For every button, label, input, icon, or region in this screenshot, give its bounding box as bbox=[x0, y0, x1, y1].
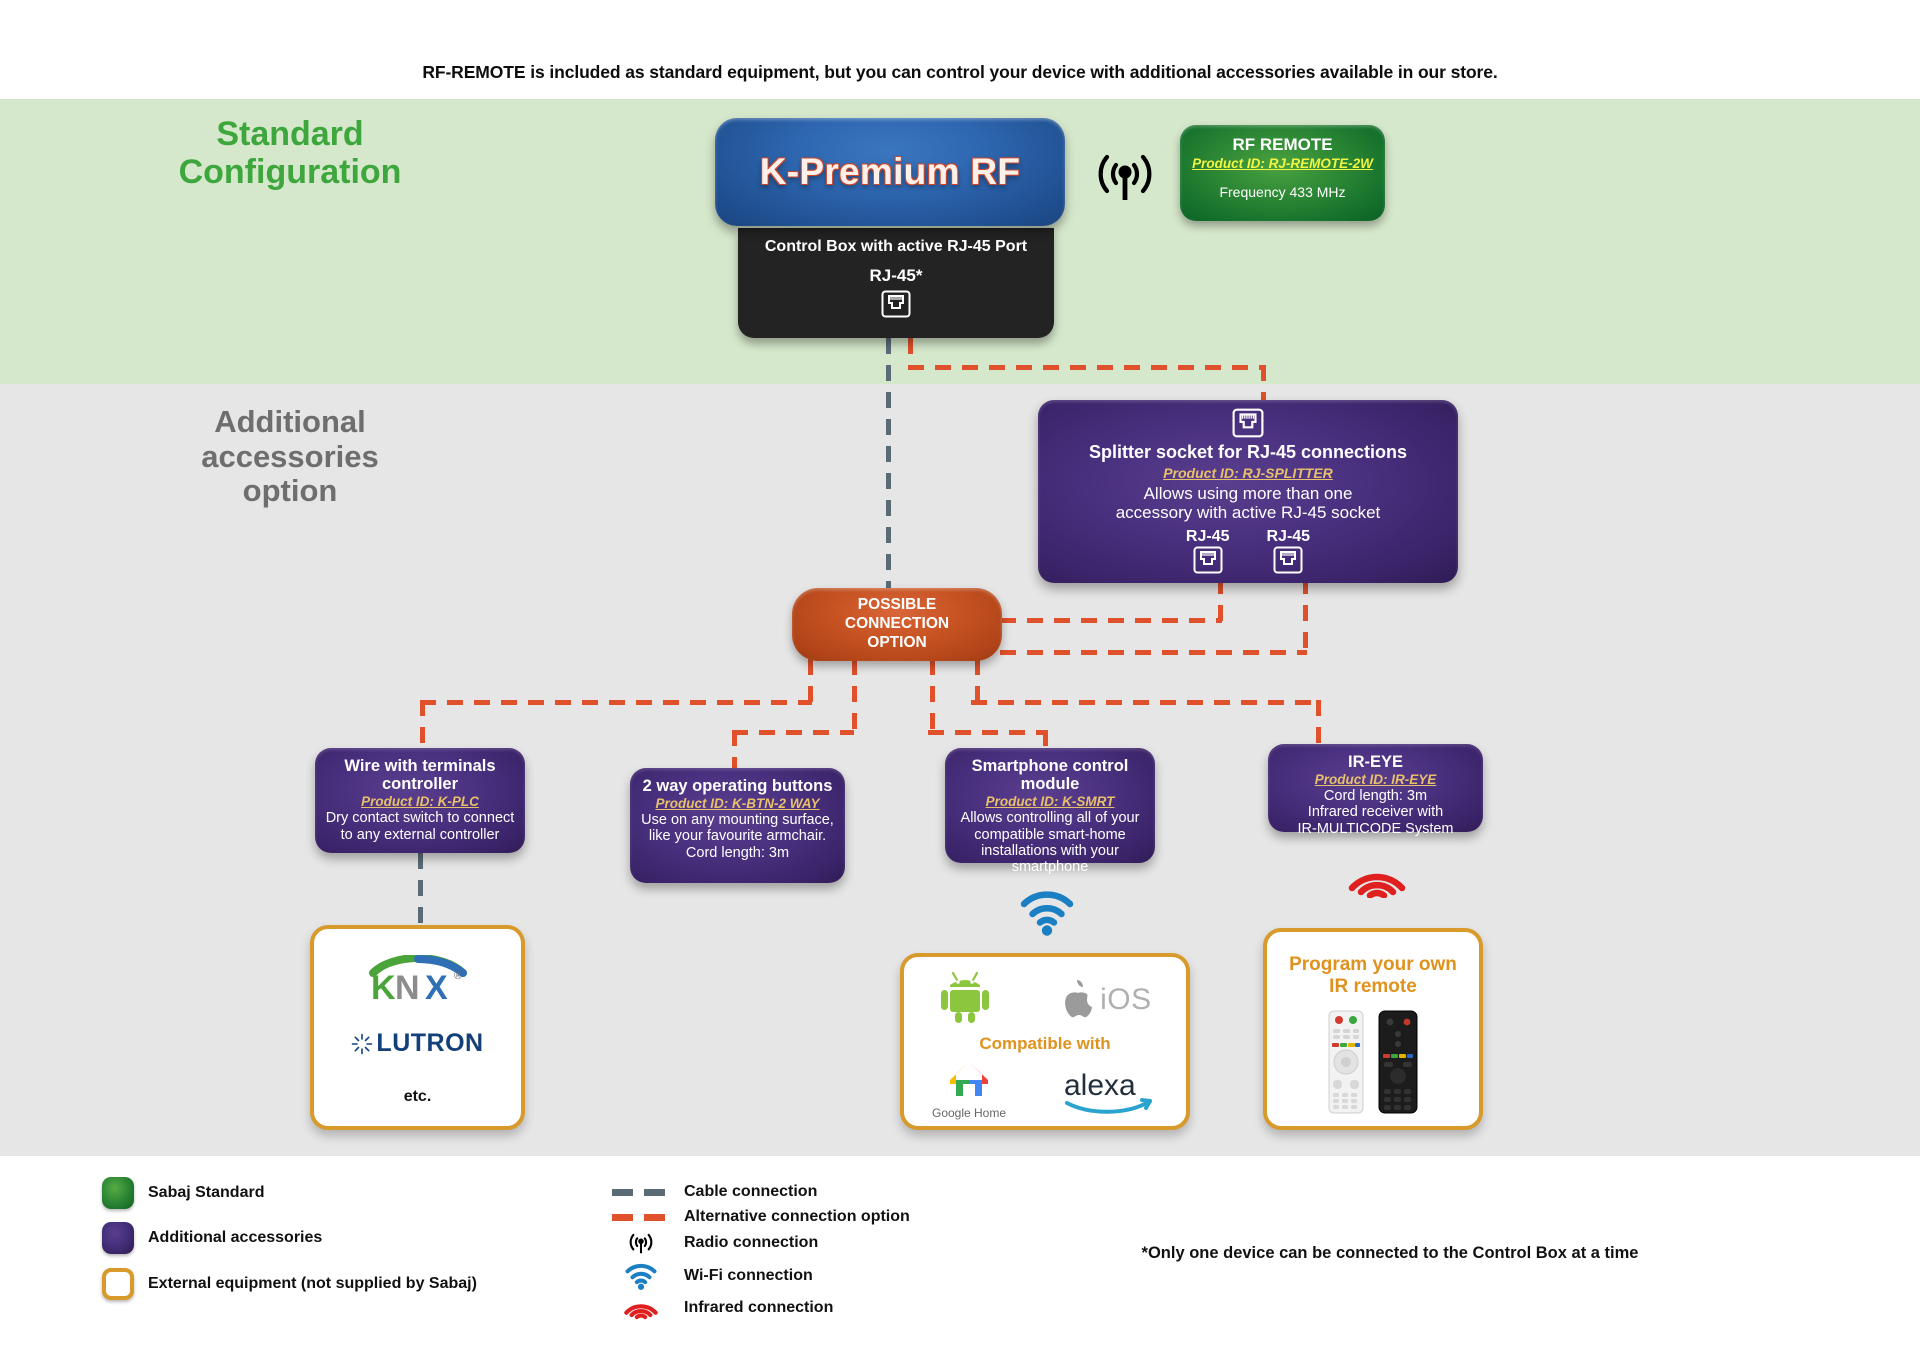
legend-additional-accessories: Additional accessories bbox=[102, 1222, 322, 1254]
google-home-logo: Google Home bbox=[932, 1058, 1006, 1120]
possible-connection-option[interactable]: POSSIBLE CONNECTION OPTION bbox=[792, 588, 1002, 661]
rf-remote-device[interactable]: RF REMOTE Product ID: RJ-REMOTE-2W Frequ… bbox=[1180, 125, 1385, 221]
legend-dashed-gray-line bbox=[612, 1189, 670, 1196]
accessory-product-id: Product ID: IR-EYE bbox=[1278, 772, 1473, 787]
alt-pco-stub-1 bbox=[808, 659, 813, 704]
splitter-top-rj45-icon bbox=[1038, 408, 1458, 438]
alt-pco-stub-3 bbox=[930, 659, 935, 733]
control-box-title: Control Box with active RJ-45 Port bbox=[738, 238, 1054, 256]
legend-swatch-white bbox=[102, 1268, 134, 1300]
section-title-additional-l1: Additional bbox=[90, 405, 490, 440]
legend-label: Additional accessories bbox=[148, 1229, 322, 1247]
infrared-icon bbox=[1348, 862, 1406, 898]
alt-to-acc1 bbox=[420, 700, 425, 750]
svg-text:X: X bbox=[425, 969, 448, 1003]
legend-radio-connection: Radio connection bbox=[612, 1228, 818, 1258]
legend-swatch-purple bbox=[102, 1222, 134, 1254]
k-premium-rf-label: K-Premium RF bbox=[760, 151, 1021, 193]
accessory-product-id: Product ID: K-SMRT bbox=[955, 794, 1145, 809]
cable-acc1-to-external bbox=[418, 853, 423, 927]
splitter-product-id: Product ID: RJ-SPLITTER bbox=[1038, 465, 1458, 481]
lutron-wordmark: LUTRON bbox=[376, 1029, 483, 1058]
alt-bus-left bbox=[420, 700, 812, 705]
ios-wordmark: iOS bbox=[1100, 983, 1152, 1017]
alt-controlbox-to-splitter-v bbox=[1261, 365, 1266, 403]
lutron-logo: LUTRON bbox=[314, 1029, 521, 1058]
splitter-port-left-label: RJ-45 bbox=[1186, 528, 1230, 546]
section-title-standard-l2: Configuration bbox=[90, 153, 490, 191]
alt-to-acc3 bbox=[1043, 730, 1048, 750]
accessory-smartphone-control-module[interactable]: Smartphone control module Product ID: K-… bbox=[945, 748, 1155, 863]
ir-eye-desc-l2: Infrared receiver with bbox=[1278, 804, 1473, 820]
google-home-label: Google Home bbox=[932, 1106, 1006, 1120]
alt-bus-inner-left bbox=[732, 730, 854, 735]
accessory-description: Cord length: 3m Infrared receiver with I… bbox=[1278, 788, 1473, 837]
alt-bus-inner-right bbox=[928, 730, 1048, 735]
alt-controlbox-to-splitter-h bbox=[908, 365, 1266, 370]
accessory-ir-eye[interactable]: IR-EYE Product ID: IR-EYE Cord length: 3… bbox=[1268, 744, 1483, 832]
alt-to-acc2 bbox=[732, 730, 737, 770]
wifi-icon bbox=[612, 1262, 670, 1290]
wifi-icon bbox=[1018, 888, 1076, 936]
accessory-product-id: Product ID: K-PLC bbox=[325, 794, 515, 809]
legend-label: External equipment (not supplied by Saba… bbox=[148, 1275, 477, 1293]
legend-label: Radio connection bbox=[684, 1234, 818, 1252]
ir-eye-desc-l1: Cord length: 3m bbox=[1278, 788, 1473, 804]
accessory-title: Smartphone control module bbox=[955, 757, 1145, 793]
splitter-port-right-label: RJ-45 bbox=[1267, 528, 1311, 546]
compatible-with-label: Compatible with bbox=[904, 1034, 1186, 1054]
legend-wifi-connection: Wi-Fi connection bbox=[612, 1262, 813, 1290]
alt-pco-stub-2 bbox=[852, 659, 857, 733]
splitter-port-left[interactable]: RJ-45 bbox=[1186, 528, 1230, 574]
accessory-description: Allows controlling all of your compatibl… bbox=[955, 810, 1145, 875]
pco-l1: POSSIBLE bbox=[845, 596, 949, 615]
external-ir-remote-card[interactable]: Program your own IR remote bbox=[1263, 928, 1483, 1130]
section-title-additional-l3: option bbox=[90, 474, 490, 509]
legend-swatch-green bbox=[102, 1177, 134, 1209]
accessory-wire-terminals-controller[interactable]: Wire with terminals controller Product I… bbox=[315, 748, 525, 853]
android-icon bbox=[938, 969, 992, 1030]
legend-label: Sabaj Standard bbox=[148, 1184, 264, 1202]
splitter-ports: RJ-45 RJ-45 bbox=[1038, 528, 1458, 574]
alt-pco-stub-4 bbox=[975, 659, 980, 704]
program-ir-remote-heading: Program your own IR remote bbox=[1267, 932, 1479, 998]
legend-cable-connection: Cable connection bbox=[612, 1183, 817, 1201]
alt-to-acc4 bbox=[1316, 700, 1321, 746]
legend-alternative-connection: Alternative connection option bbox=[612, 1208, 910, 1226]
svg-text:N: N bbox=[395, 969, 420, 1003]
infrared-icon bbox=[612, 1296, 670, 1320]
pco-l2: CONNECTION bbox=[845, 615, 949, 634]
accessory-description: Dry contact switch to connect to any ext… bbox=[325, 810, 515, 842]
section-title-additional-l2: accessories bbox=[90, 440, 490, 475]
alt-splitter-port1-to-pco bbox=[1000, 618, 1222, 623]
radio-wave-icon bbox=[1085, 145, 1165, 212]
external-smartphone-compat-card[interactable]: iOS Compatible with Google Home alex bbox=[900, 953, 1190, 1130]
accessory-title: 2 way operating buttons bbox=[640, 777, 835, 795]
ios-logo: iOS bbox=[1061, 979, 1152, 1021]
legend-sabaj-standard: Sabaj Standard bbox=[102, 1177, 264, 1209]
external-controllers-card[interactable]: K N X ® LUTRON etc. bbox=[310, 925, 525, 1130]
k-premium-rf-device[interactable]: K-Premium RF bbox=[715, 118, 1065, 226]
black-remote-icon bbox=[1378, 1010, 1418, 1119]
splitter-desc-l2: accessory with active RJ-45 socket bbox=[1038, 503, 1458, 522]
section-title-standard-l1: Standard bbox=[90, 115, 490, 153]
section-title-standard: Standard Configuration bbox=[90, 115, 490, 191]
accessory-2way-operating-buttons[interactable]: 2 way operating buttons Product ID: K-BT… bbox=[630, 768, 845, 883]
accessory-title: Wire with terminals controller bbox=[325, 757, 515, 793]
header-note: RF-REMOTE is included as standard equipm… bbox=[0, 62, 1920, 83]
rj45-port-icon bbox=[738, 290, 1054, 318]
ir-eye-desc-l3: IR-MULTICODE System bbox=[1278, 821, 1473, 837]
white-remote-icon bbox=[1328, 1010, 1364, 1119]
legend-label: Wi-Fi connection bbox=[684, 1267, 813, 1285]
diagram-canvas: RF-REMOTE is included as standard equipm… bbox=[0, 0, 1920, 1357]
svg-text:®: ® bbox=[454, 970, 462, 982]
splitter-title: Splitter socket for RJ-45 connections bbox=[1038, 442, 1458, 463]
alt-bus-right bbox=[971, 700, 1321, 705]
legend-label: Cable connection bbox=[684, 1183, 817, 1201]
footnote: *Only one device can be connected to the… bbox=[1130, 1243, 1650, 1264]
splitter-desc-l1: Allows using more than one bbox=[1038, 484, 1458, 503]
accessory-product-id: Product ID: K-BTN-2 WAY bbox=[640, 796, 835, 811]
rf-remote-product-id: Product ID: RJ-REMOTE-2W bbox=[1180, 156, 1385, 171]
rf-remote-title: RF REMOTE bbox=[1180, 135, 1385, 155]
accessory-description: Use on any mounting surface, like your f… bbox=[640, 812, 835, 861]
alt-controlbox-stub bbox=[908, 338, 913, 368]
radio-wave-icon bbox=[612, 1228, 670, 1258]
legend-label: Alternative connection option bbox=[684, 1208, 910, 1226]
rj45-port-icon bbox=[1193, 546, 1223, 574]
legend-dashed-red-line bbox=[612, 1214, 670, 1221]
splitter-description: Allows using more than one accessory wit… bbox=[1038, 484, 1458, 523]
knx-logo: K N X ® bbox=[314, 955, 521, 1003]
legend-infrared-connection: Infrared connection bbox=[612, 1296, 833, 1320]
section-title-additional: Additional accessories option bbox=[90, 405, 490, 509]
accessory-title: IR-EYE bbox=[1278, 753, 1473, 771]
svg-text:alexa: alexa bbox=[1064, 1069, 1136, 1102]
legend-label: Infrared connection bbox=[684, 1299, 833, 1317]
external-etc-label: etc. bbox=[314, 1088, 521, 1106]
legend-external-equipment: External equipment (not supplied by Saba… bbox=[102, 1268, 477, 1300]
control-box[interactable]: Control Box with active RJ-45 Port RJ-45… bbox=[738, 228, 1054, 338]
alt-splitter-port1-v bbox=[1218, 578, 1223, 622]
alt-splitter-port2-to-pco bbox=[1000, 650, 1307, 655]
rf-remote-frequency: Frequency 433 MHz bbox=[1180, 184, 1385, 200]
control-box-port-label: RJ-45* bbox=[738, 266, 1054, 286]
svg-text:K: K bbox=[371, 969, 396, 1003]
rj45-port-icon bbox=[1273, 546, 1303, 574]
alt-splitter-port2-v bbox=[1303, 578, 1308, 654]
cable-controlbox-to-pco bbox=[886, 338, 891, 590]
splitter-port-right[interactable]: RJ-45 bbox=[1267, 528, 1311, 574]
alexa-logo: alexa bbox=[1062, 1069, 1158, 1120]
rj45-splitter-socket[interactable]: Splitter socket for RJ-45 connections Pr… bbox=[1038, 400, 1458, 583]
pco-l3: OPTION bbox=[845, 634, 949, 653]
